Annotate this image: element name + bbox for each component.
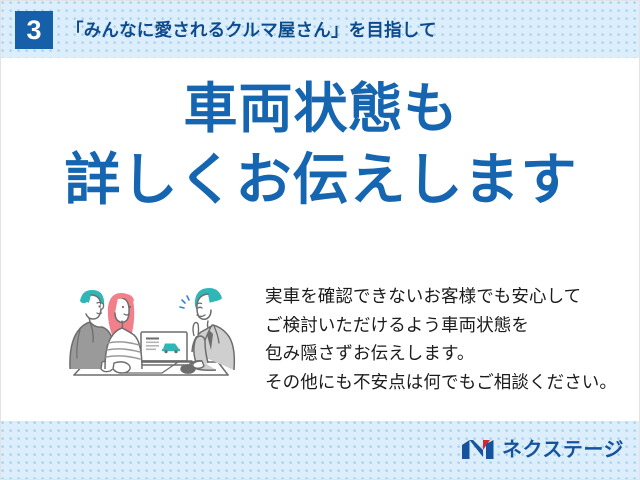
brand-logo: ネクステージ: [461, 435, 624, 465]
body-copy-line-3: 包み隠さずお伝えします。: [265, 339, 625, 368]
brand-name: ネクステージ: [502, 440, 624, 460]
nextage-n-mark-icon: [461, 438, 495, 462]
body-copy: 実車を確認できないお客様でも安心して ご検討いただけるよう車両状態を 包み隠さず…: [265, 282, 625, 396]
step-number-badge: 3: [15, 11, 53, 49]
promo-banner: 3 「みんなに愛されるクルマ屋さん」を目指して 車両状態も 詳しくお伝えします: [0, 0, 640, 480]
header: 3 「みんなに愛されるクルマ屋さん」を目指して: [1, 1, 640, 58]
consultation-illustration: [56, 274, 246, 399]
body-copy-line-1: 実車を確認できないお客様でも安心して: [265, 282, 625, 311]
headline-line-1: 車両状態も: [1, 74, 640, 144]
headline-line-2: 詳しくお伝えします: [1, 144, 640, 217]
body-copy-line-4: その他にも不安点は何でもご相談ください。: [265, 368, 625, 397]
main-content: 車両状態も 詳しくお伝えします: [1, 58, 640, 421]
header-title: 「みんなに愛されるクルマ屋さん」を目指して: [66, 17, 437, 42]
body-copy-line-2: ご検討いただけるよう車両状態を: [265, 311, 625, 340]
headline: 車両状態も 詳しくお伝えします: [1, 74, 640, 217]
lower-row: 実車を確認できないお客様でも安心して ご検討いただけるよう車両状態を 包み隠さず…: [1, 274, 640, 414]
